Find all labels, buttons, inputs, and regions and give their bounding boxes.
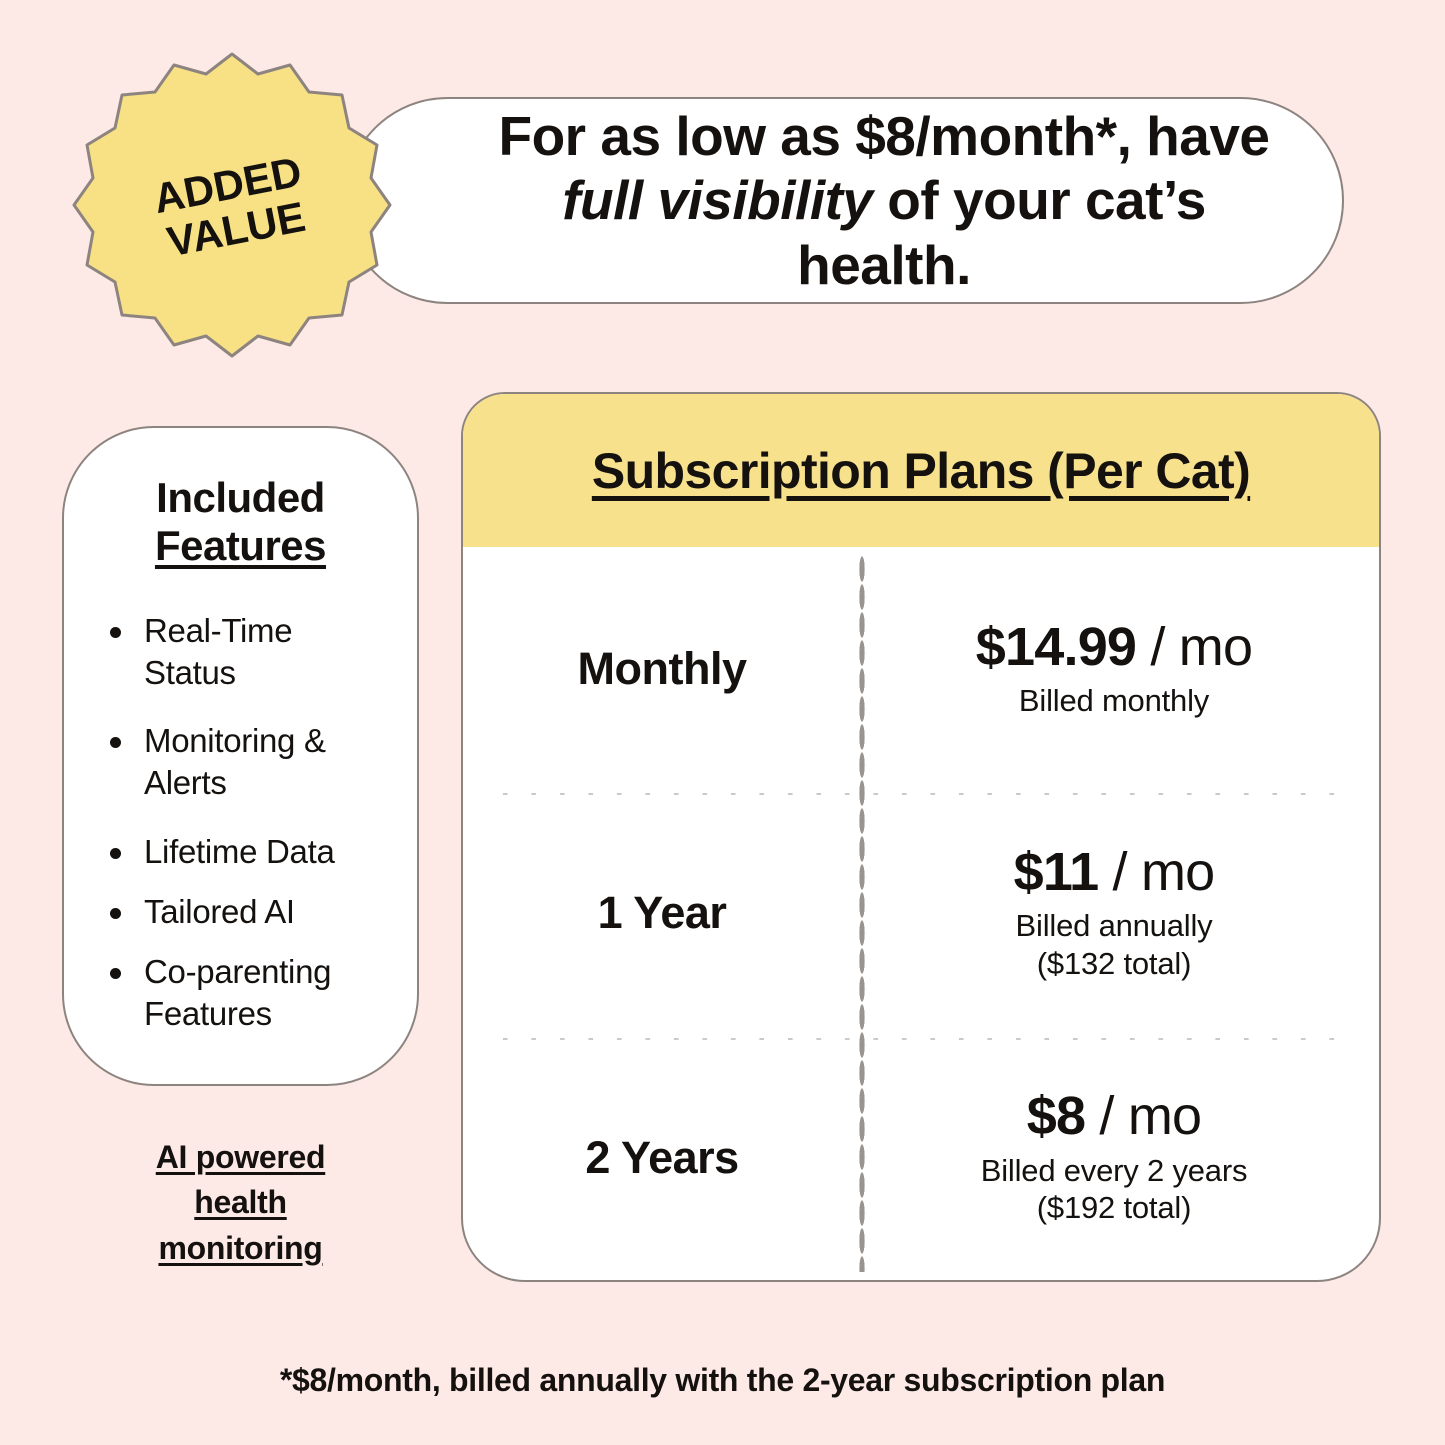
subscription-plans-card: Subscription Plans (Per Cat) Monthly $14… [461,392,1381,1282]
pricing-rows: Monthly $14.99 / mo Billed monthly 1 Yea… [463,547,1379,1280]
pricing-title: Subscription Plans (Per Cat) [592,442,1250,500]
features-list: Real-Time Status Monitoring & Alerts Lif… [90,610,391,1036]
badge-label: ADDED VALUE [44,20,419,395]
features-title-line-1: Included [156,474,325,521]
plan-price-unit: / mo [1085,1086,1201,1146]
plan-price: $11 / mo [861,844,1367,901]
ai-caption-line-3: monitoring [62,1226,419,1271]
included-features-card: Included Features Real-Time Status Monit… [62,426,419,1086]
ai-caption-line-2: health [62,1180,419,1225]
features-title-line-2: Features [155,522,326,569]
plan-price-unit: / mo [1136,617,1252,677]
plan-billing-line-1: Billed annually [1016,908,1213,943]
plan-billing-line-2: ($132 total) [1037,946,1191,981]
list-item: Real-Time Status [102,610,391,694]
list-item: Co-parenting Features [102,951,391,1035]
plan-billing-line-2: ($192 total) [1037,1190,1191,1225]
plan-term: 1 Year [463,887,861,939]
plan-billing-line-1: Billed monthly [1019,683,1209,718]
list-item: Lifetime Data [102,831,391,873]
plan-price: $14.99 / mo [861,619,1367,676]
ai-powered-caption: AI powered health monitoring [62,1135,419,1271]
header-banner: For as low as $8/month*, have full visib… [344,97,1344,304]
list-item: Monitoring & Alerts [102,720,391,804]
plan-term: 2 Years [463,1132,861,1184]
header-headline: For as low as $8/month*, have full visib… [346,104,1342,297]
added-value-badge: ADDED VALUE [72,48,392,368]
plan-billing-line-1: Billed every 2 years [981,1153,1248,1188]
plan-billing-note: Billed every 2 years ($192 total) [861,1152,1367,1228]
header-line-1: For as low as $8/month*, have [498,105,1269,167]
footnote: *$8/month, billed annually with the 2-ye… [0,1362,1445,1399]
table-row: Monthly $14.99 / mo Billed monthly [463,547,1379,791]
plan-price-amount: $11 [1014,842,1099,902]
plan-price-amount: $8 [1027,1086,1085,1146]
features-title: Included Features [90,474,391,570]
plan-price-amount: $14.99 [976,617,1136,677]
plan-price-cell: $8 / mo Billed every 2 years ($192 total… [861,1088,1379,1227]
plan-billing-note: Billed annually ($132 total) [861,907,1367,983]
plan-price-cell: $11 / mo Billed annually ($132 total) [861,844,1379,983]
plan-price-unit: / mo [1098,842,1214,902]
infographic-canvas: For as low as $8/month*, have full visib… [0,0,1445,1445]
list-item: Tailored AI [102,891,391,933]
plan-billing-note: Billed monthly [861,682,1367,720]
pricing-body: Monthly $14.99 / mo Billed monthly 1 Yea… [463,547,1379,1280]
plan-price-cell: $14.99 / mo Billed monthly [861,619,1379,720]
table-row: 2 Years $8 / mo Billed every 2 years ($1… [463,1036,1379,1280]
plan-term: Monthly [463,643,861,695]
ai-caption-line-1: AI powered [62,1135,419,1180]
table-row: 1 Year $11 / mo Billed annually ($132 to… [463,791,1379,1035]
plan-price: $8 / mo [861,1088,1367,1145]
pricing-header-band: Subscription Plans (Per Cat) [463,394,1379,547]
header-emphasis: full visibility [562,169,872,231]
